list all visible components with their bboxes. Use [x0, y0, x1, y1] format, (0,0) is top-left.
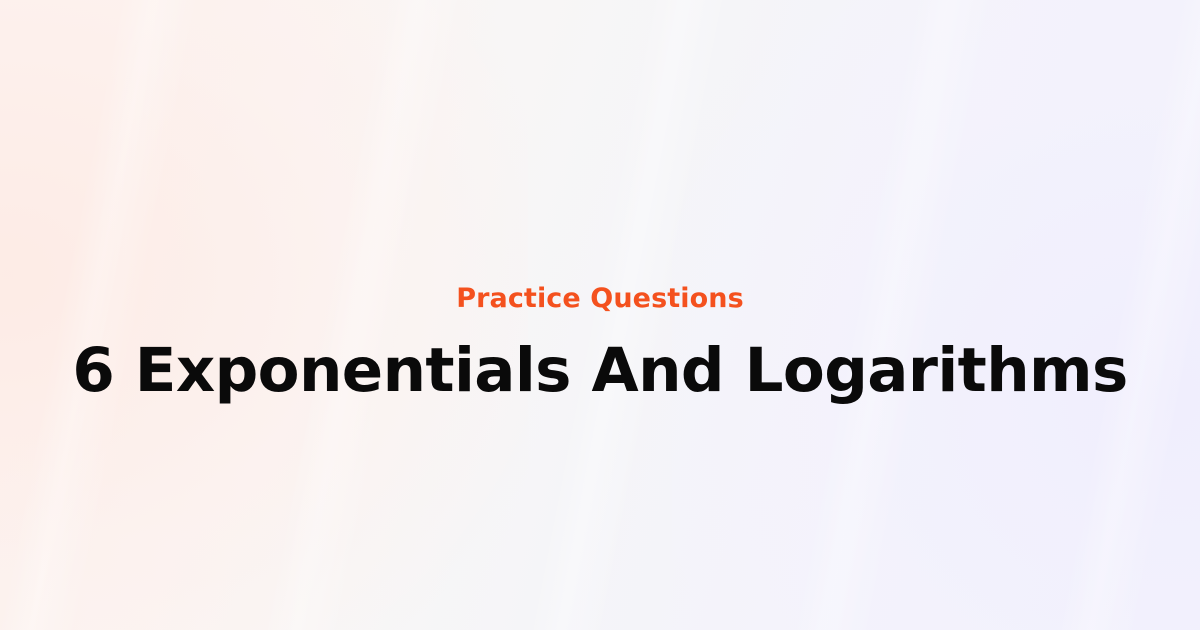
eyebrow-label: Practice Questions — [456, 283, 744, 315]
share-card: Practice Questions 6 Exponentials And Lo… — [0, 0, 1200, 630]
page-title: 6 Exponentials And Logarithms — [72, 337, 1127, 405]
card-content: Practice Questions 6 Exponentials And Lo… — [0, 283, 1200, 406]
